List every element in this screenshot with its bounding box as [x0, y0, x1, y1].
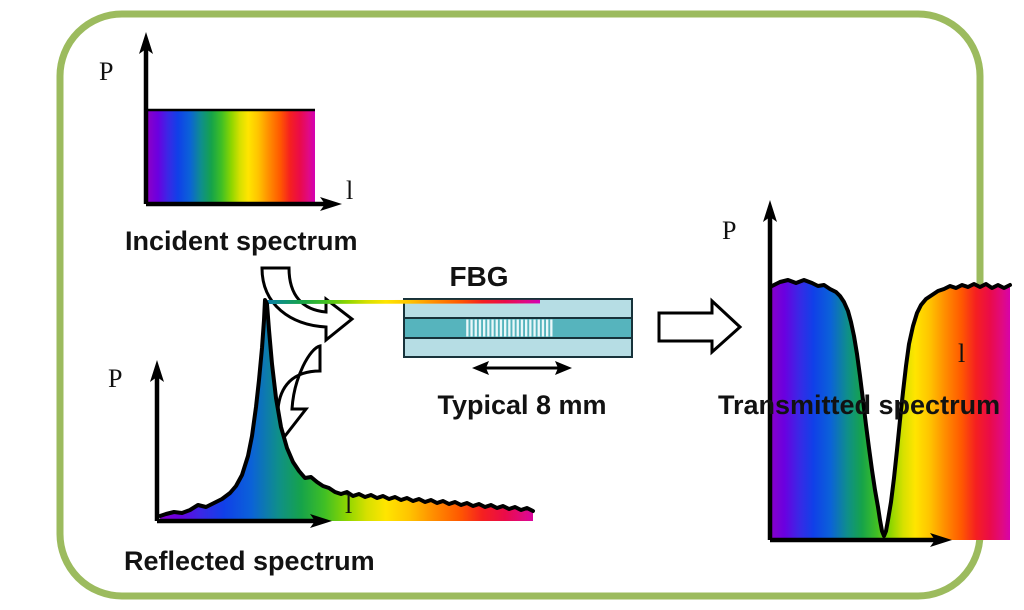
fbg-device: FBG Typical 8 mm: [404, 261, 632, 420]
reflected-spectrum-caption: Reflected spectrum: [124, 546, 375, 576]
incident-spectrum-area: [148, 111, 315, 204]
incident-x-axis-label: l: [346, 176, 353, 205]
fbg-lower-cladding: [404, 338, 632, 357]
straight-arrow-fbg-to-transmitted: [659, 301, 740, 352]
incident-spectrum-caption: Incident spectrum: [125, 226, 358, 256]
fbg-grating: [466, 320, 554, 337]
transmitted-spectrum-panel: P l Transmitted spectrum: [718, 200, 1012, 547]
figure-canvas: P l Incident spectrum FBG Typical 8: [0, 0, 1024, 610]
incident-spectrum-panel: P l Incident spectrum: [99, 32, 358, 256]
curved-arrow-incident-to-fbg: [262, 268, 352, 340]
reflected-x-axis-label: l: [345, 490, 352, 519]
transmitted-spectrum-caption: Transmitted spectrum: [718, 390, 1000, 420]
incident-y-axis-label: P: [99, 57, 113, 86]
fbg-dimension-arrow: [472, 361, 572, 375]
fbg-diagram: P l Incident spectrum FBG Typical 8: [0, 0, 1024, 610]
transmitted-y-axis-label: P: [722, 216, 736, 245]
fbg-dimension-label: Typical 8 mm: [437, 390, 606, 420]
transmitted-x-axis-label: l: [958, 339, 965, 368]
fbg-label: FBG: [449, 261, 508, 292]
reflected-y-axis-label: P: [108, 364, 122, 393]
